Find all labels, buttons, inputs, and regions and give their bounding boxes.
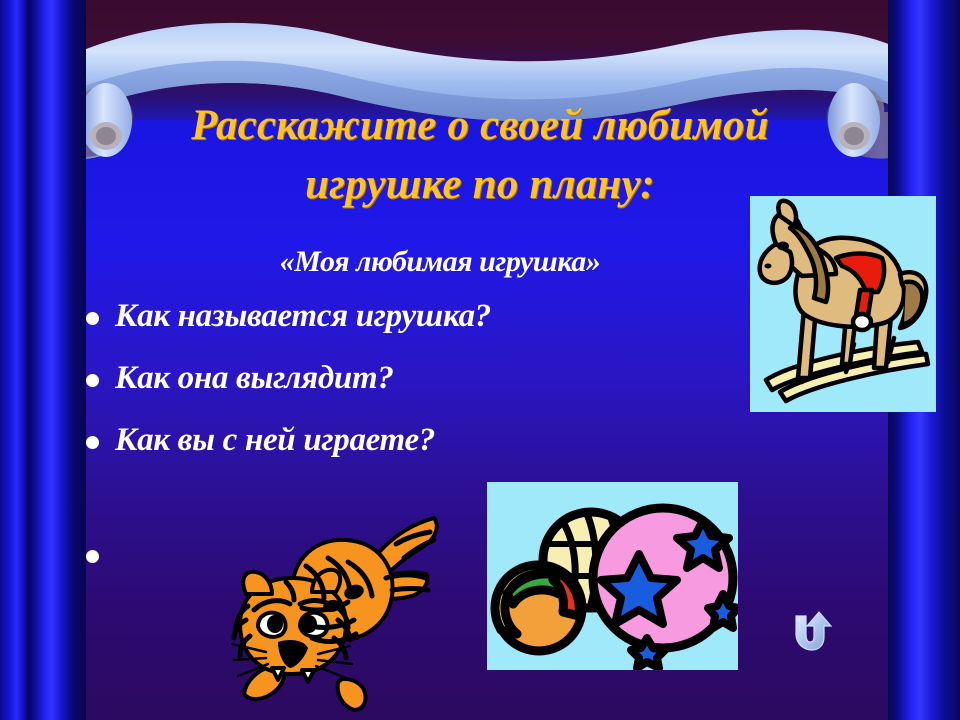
bullet-dot-icon bbox=[86, 312, 99, 325]
subtitle: «Моя любимая игрушка» bbox=[90, 245, 790, 279]
bullet-dot-icon bbox=[86, 550, 99, 563]
image-tiger bbox=[196, 496, 440, 712]
u-turn-arrow-icon[interactable] bbox=[786, 608, 834, 656]
list-item: Как называется игрушка? bbox=[86, 298, 706, 360]
list-item-label: Как вы с ней играете? bbox=[115, 422, 435, 458]
bullet-dot-icon bbox=[86, 374, 99, 387]
list-item: Как вы с ней играете? bbox=[86, 422, 706, 484]
list-item-label: Как называется игрушка? bbox=[115, 298, 491, 334]
curtain-left bbox=[0, 0, 86, 720]
slide-canvas: Расскажите о своей любимой игрушке по пл… bbox=[0, 0, 960, 720]
list-item: Как она выглядит? bbox=[86, 360, 706, 422]
image-toy-balls bbox=[487, 482, 738, 670]
page-title-line-1: Расскажите о своей любимой bbox=[90, 96, 870, 155]
image-rocking-horse bbox=[750, 196, 936, 412]
bullet-dot-icon bbox=[86, 436, 99, 449]
list-item-label: Как она выглядит? bbox=[115, 360, 394, 396]
